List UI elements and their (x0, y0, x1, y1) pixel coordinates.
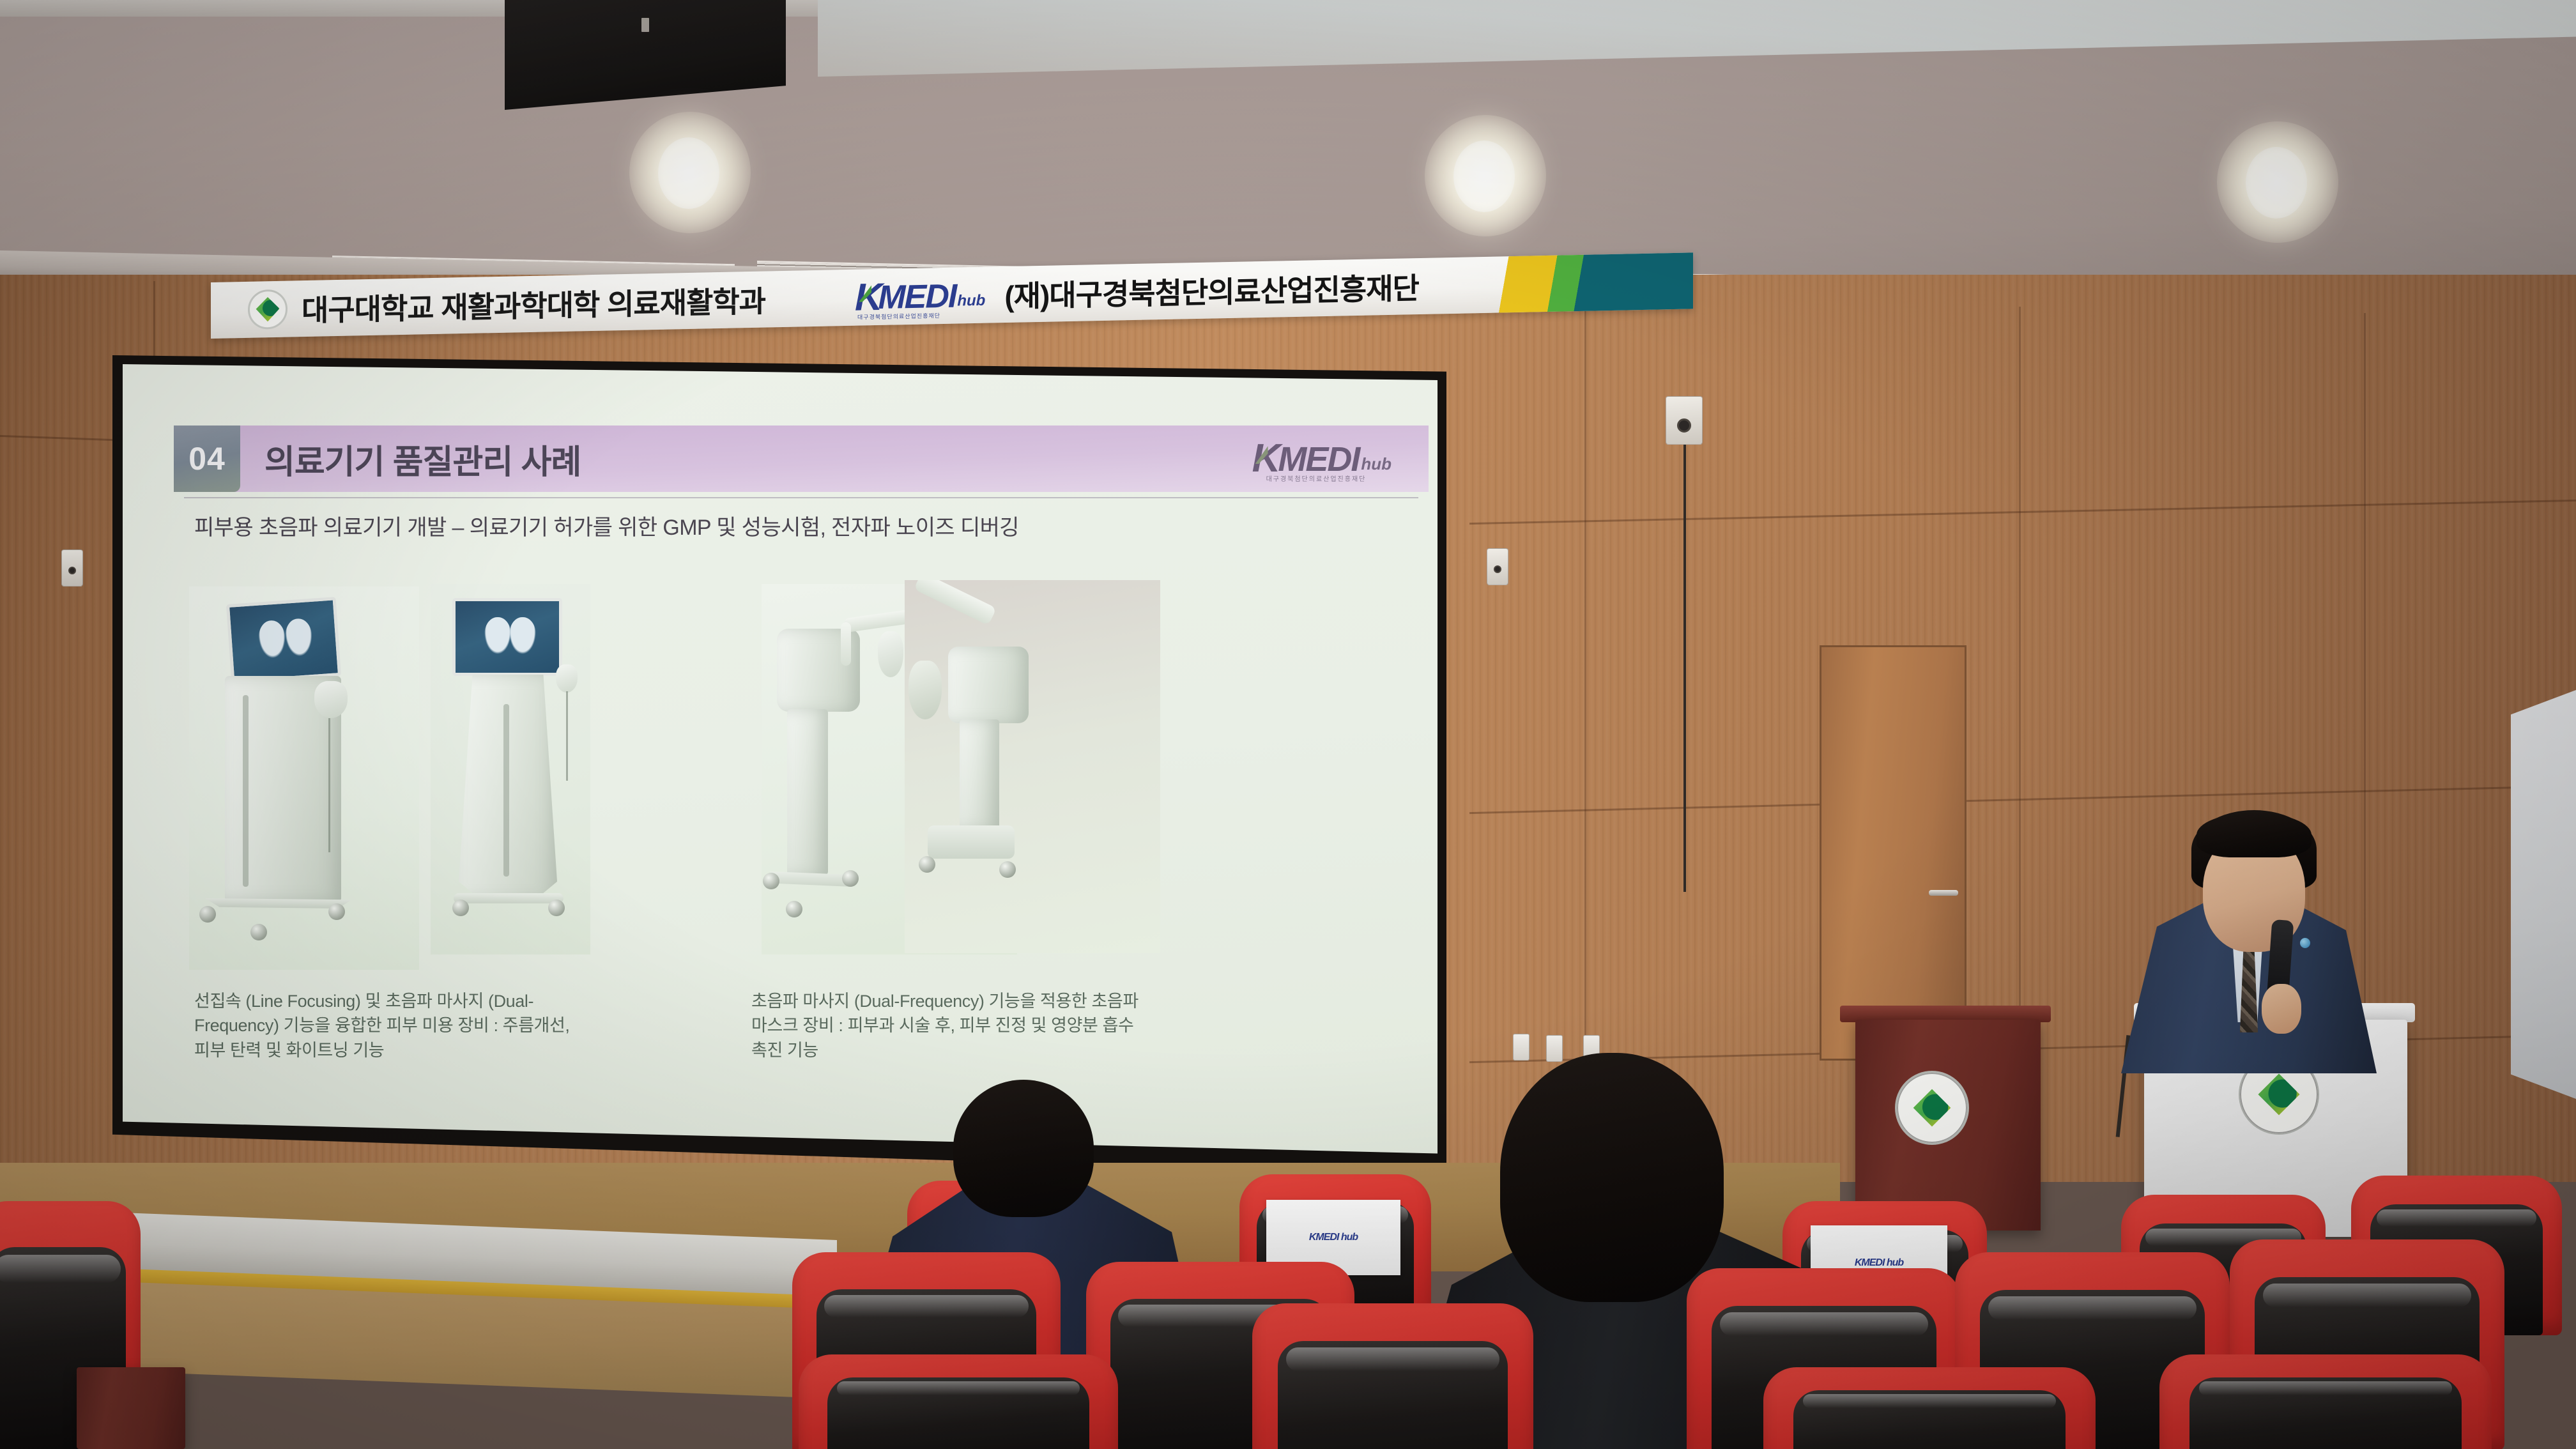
seat-row1-d[interactable] (2159, 1354, 2492, 1449)
seat-gloss-highlight (0, 1255, 121, 1283)
seat-gloss-highlight (2199, 1381, 2451, 1395)
ultrasound-device-front-view (431, 584, 590, 954)
audience-member-left-head (953, 1080, 1094, 1217)
device-display-1 (226, 597, 341, 684)
slide-logo-medi: MEDI (1278, 445, 1359, 474)
downlight-2 (1453, 141, 1515, 212)
device-arm-4 (914, 580, 997, 625)
sensor-dot-icon-left (68, 567, 76, 574)
kmedi-hub-logo-slide: K MEDI hub 대구경북첨단의료산업진흥재단 (1252, 443, 1391, 475)
device-groove-1 (243, 695, 249, 887)
device-wheel-2a (452, 900, 469, 916)
device-cable-1 (328, 718, 330, 852)
auditorium-scene: 대구대학교 재활과학대학 의료재활학과 K MEDI hub 대구경북첨단의료산… (0, 0, 2576, 1449)
kmedi-hub-logo-banner: K MEDI hub 대구경북첨단의료산업진흥재단 (855, 279, 985, 313)
seat-row2-c[interactable] (1252, 1303, 1533, 1449)
speaker-badge (641, 18, 649, 32)
kmedi-logo-hub: hub (957, 293, 985, 309)
wall-sensor-right[interactable] (1666, 396, 1703, 445)
audience-member-center-head (1500, 1053, 1724, 1302)
device-wheel-1a (199, 906, 216, 923)
slide-number-badge: 04 (174, 425, 240, 492)
projection-screen-surface: 04 의료기기 품질관리 사례 K MEDI hub 대구경북첨단의료산업진흥재… (123, 364, 1437, 1161)
side-table-wood (77, 1367, 185, 1449)
banner-department-text: 대구대학교 재활과학대학 의료재활학과 (302, 279, 765, 330)
device-display-2 (452, 598, 562, 676)
sensor-cable-right (1683, 445, 1686, 892)
presenter-hair-front (2196, 813, 2311, 857)
seat-gloss-highlight (1286, 1347, 1499, 1370)
device-wheel-1c (328, 903, 345, 920)
device-handpiece-2 (556, 664, 578, 693)
seat-gloss-highlight (2377, 1209, 2537, 1227)
slide-caption-left: 선집속 (Line Focusing) 및 초음파 마사지 (Dual-Freq… (194, 989, 578, 1062)
ultrasound-mask-cart-photo (905, 580, 1160, 953)
device-face-graphic-r (284, 618, 314, 657)
device-wheel-3c (842, 870, 859, 887)
exit-door[interactable] (1820, 645, 1966, 1061)
wall-panel-white-right (2511, 690, 2576, 1099)
device-wheel-4a (919, 856, 935, 873)
seat-gloss-highlight (1803, 1394, 2055, 1408)
seat-gloss-highlight (2263, 1284, 2472, 1307)
slide-title: 의료기기 품질관리 사례 (264, 435, 581, 483)
door-handle-icon[interactable] (1929, 890, 1958, 896)
device-base-2 (454, 893, 563, 903)
device-arm-vert-3 (841, 622, 851, 666)
downlight-1 (658, 137, 719, 209)
device-column-4 (960, 719, 999, 829)
presenter-hand (2262, 984, 2301, 1034)
lectern-wood (1855, 1020, 2041, 1230)
slide-header-rule (184, 497, 1418, 498)
wall-outlet-plate-2[interactable] (1546, 1035, 1563, 1062)
slide-caption-right: 초음파 마사지 (Dual-Frequency) 기능을 적용한 초음파 마스크… (751, 989, 1147, 1062)
slide-logo-k: K (1252, 443, 1278, 475)
seal-diamond-icon (255, 296, 280, 323)
device-mask-head-3 (878, 631, 903, 677)
seat-row1-c[interactable] (1763, 1367, 2096, 1449)
kmedi-mini-logo-2: KMEDI hub (1855, 1257, 1903, 1269)
kmedi-mini-logo: KMEDI hub (1309, 1232, 1358, 1243)
seat-row1-b[interactable] (799, 1354, 1118, 1449)
device-wheel-2b (548, 900, 565, 916)
presenter-lapel-pin (2300, 938, 2310, 948)
device-wheel-3a (763, 873, 779, 889)
seat-gloss-highlight (1720, 1312, 1929, 1335)
daegu-university-seal-lectern (1895, 1071, 1969, 1145)
sensor-dot-icon (1677, 418, 1691, 433)
device-base-4 (928, 825, 1015, 859)
daegu-university-seal-icon (248, 289, 287, 330)
device-cable-2 (566, 691, 568, 781)
sensor-dot-icon-mid (1494, 565, 1501, 573)
device-groove-2 (503, 704, 509, 877)
device-head-4 (948, 647, 1029, 723)
downlight-3 (2246, 147, 2307, 218)
device-handpiece-1 (314, 681, 348, 718)
slide-subtitle: 피부용 초음파 의료기기 개발 – 의료기기 허가를 위한 GMP 및 성능시험… (194, 510, 1019, 541)
device-face-graphic-2r (509, 617, 536, 654)
device-mask-4 (908, 661, 942, 719)
ultrasound-device-angled-view (189, 586, 419, 970)
device-wheel-3b (786, 901, 802, 917)
device-column-3 (787, 709, 828, 875)
seat-gloss-highlight (1988, 1296, 2197, 1319)
slide-logo-subtext: 대구경북첨단의료산업진흥재단 (1266, 473, 1367, 483)
wall-sensor-mid[interactable] (1487, 548, 1508, 585)
banner-color-stripes (1482, 252, 1693, 313)
wall-outlet-plate-1[interactable] (1513, 1034, 1529, 1061)
slide-logo-hub: hub (1361, 456, 1391, 472)
slide-header: 04 의료기기 품질관리 사례 K MEDI hub 대구경북첨단의료산업진흥재… (174, 425, 1429, 492)
device-face-graphic-2l (484, 617, 511, 654)
wall-sensor-left[interactable] (61, 549, 83, 586)
banner-org-text: (재)대구경북첨단의료산업진흥재단 (1004, 265, 1418, 316)
device-face-graphic-l (257, 620, 287, 659)
kmedi-logo-subtext: 대구경북첨단의료산업진흥재단 (857, 311, 940, 321)
device-wheel-1b (250, 924, 267, 940)
seat-gloss-highlight (824, 1295, 1028, 1317)
seat-gloss-highlight (837, 1381, 1080, 1395)
device-wheel-4b (999, 861, 1016, 878)
kmedi-logo-k: K (855, 281, 880, 313)
kmedi-logo-medi: MEDI (878, 282, 956, 312)
